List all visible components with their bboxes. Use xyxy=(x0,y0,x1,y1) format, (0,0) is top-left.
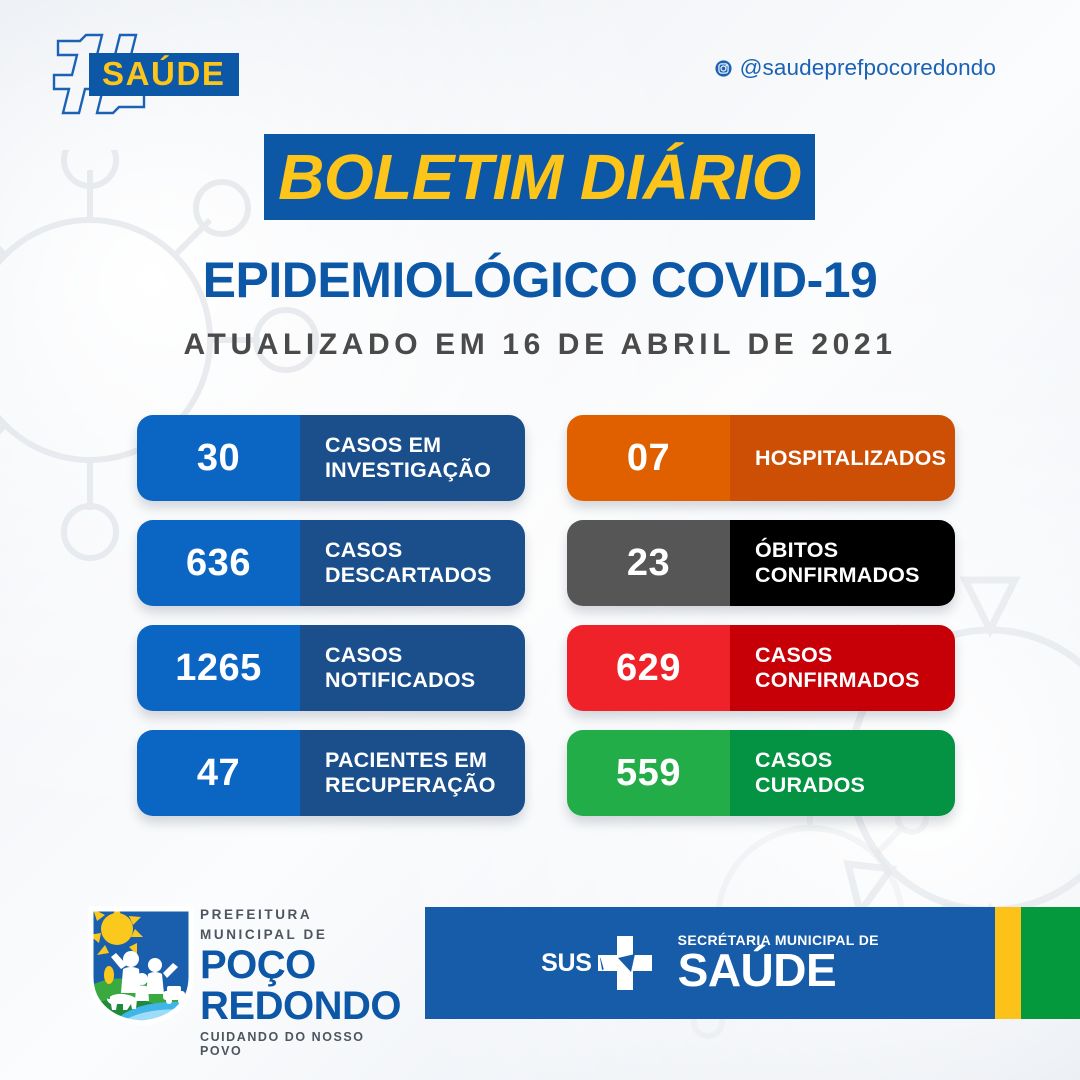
stat-label: ÓBITOSCONFIRMADOS xyxy=(730,520,955,606)
stat-label-line2: CONFIRMADOS xyxy=(755,668,920,692)
stat-label-line1: CASOS xyxy=(755,643,832,667)
title-band: BOLETIM DIÁRIO xyxy=(264,134,815,220)
stat-label-line1: CASOS xyxy=(325,643,402,667)
stat-card-pacientes-em-recuperacao[interactable]: 47 PACIENTES EMRECUPERAÇÃO xyxy=(137,730,525,816)
stat-label: HOSPITALIZADOS xyxy=(730,415,955,501)
sus-cross-icon xyxy=(594,932,656,994)
prefeitura-wordmark: PREFEITURA MUNICIPAL DE POÇO REDONDO CUI… xyxy=(200,905,410,1058)
stat-label: CASOS EMINVESTIGAÇÃO xyxy=(300,415,525,501)
stat-value: 30 xyxy=(137,415,300,501)
instagram-icon xyxy=(715,60,732,77)
stat-label-line2: RECUPERAÇÃO xyxy=(325,773,496,797)
sus-wordmark: SUS xyxy=(541,949,592,978)
stat-value: 629 xyxy=(567,625,730,711)
stat-card-casos-curados[interactable]: 559 CASOSCURADOS xyxy=(567,730,955,816)
stat-card-casos-descartados[interactable]: 636 CASOSDESCARTADOS xyxy=(137,520,525,606)
stat-label-line2: NOTIFICADOS xyxy=(325,668,475,692)
stat-value: 07 xyxy=(567,415,730,501)
stat-card-casos-confirmados[interactable]: 629 CASOSCONFIRMADOS xyxy=(567,625,955,711)
stat-card-obitos-confirmados[interactable]: 23 ÓBITOSCONFIRMADOS xyxy=(567,520,955,606)
stats-column-left: 30 CASOS EMINVESTIGAÇÃO 636 CASOSDESCART… xyxy=(137,415,525,835)
poster-subtitle: EPIDEMIOLÓGICO COVID-19 xyxy=(0,255,1080,305)
city-name-line1: POÇO xyxy=(200,946,410,984)
municipal-crest-icon xyxy=(85,903,197,1027)
stat-label-line2: CONFIRMADOS xyxy=(755,563,920,587)
stat-value: 636 xyxy=(137,520,300,606)
stat-label-line1: CASOS xyxy=(755,748,832,772)
stats-column-right: 07 HOSPITALIZADOS 23 ÓBITOSCONFIRMADOS 6… xyxy=(567,415,955,835)
stat-card-casos-notificados[interactable]: 1265 CASOSNOTIFICADOS xyxy=(137,625,525,711)
stat-value: 559 xyxy=(567,730,730,816)
banner-stripe-green xyxy=(1021,907,1080,1019)
stat-card-casos-em-investigacao[interactable]: 30 CASOS EMINVESTIGAÇÃO xyxy=(137,415,525,501)
secretaria-big-text: SAÚDE xyxy=(678,947,879,994)
stat-label: CASOSNOTIFICADOS xyxy=(300,625,525,711)
prefeitura-line1: PREFEITURA xyxy=(200,905,410,925)
poster-title: BOLETIM DIÁRIO xyxy=(264,145,815,209)
stat-label-line2: DESCARTADOS xyxy=(325,563,492,587)
city-slogan: CUIDANDO DO NOSSO POVO xyxy=(200,1030,410,1058)
banner-stripe-yellow xyxy=(995,907,1021,1019)
boletim-poster: SAÚDE @saudeprefpocoredondo BOLETIM DIÁR… xyxy=(0,0,1080,1080)
saude-logo: SAÚDE xyxy=(52,33,212,115)
stat-label-line1: HOSPITALIZADOS xyxy=(755,446,946,471)
stat-label-line1: CASOS EM xyxy=(325,433,441,457)
instagram-handle[interactable]: @saudeprefpocoredondo xyxy=(715,55,996,81)
stat-value: 23 xyxy=(567,520,730,606)
instagram-handle-text: @saudeprefpocoredondo xyxy=(740,55,996,81)
city-name-line2: REDONDO xyxy=(200,987,410,1025)
saude-logo-word: SAÚDE xyxy=(89,53,239,96)
stat-label-line1: PACIENTES EM xyxy=(325,748,487,772)
stat-card-hospitalizados[interactable]: 07 HOSPITALIZADOS xyxy=(567,415,955,501)
sus-logo: SUS xyxy=(541,932,656,994)
secretaria-wordmark: SECRÉTARIA MUNICIPAL DE SAÚDE xyxy=(678,933,879,994)
prefeitura-line2: MUNICIPAL DE xyxy=(200,925,410,945)
stat-label: CASOSDESCARTADOS xyxy=(300,520,525,606)
stat-value: 47 xyxy=(137,730,300,816)
stat-value: 1265 xyxy=(137,625,300,711)
stat-label: CASOSCURADOS xyxy=(730,730,955,816)
stat-label-line2: INVESTIGAÇÃO xyxy=(325,458,491,482)
stat-label: CASOSCONFIRMADOS xyxy=(730,625,955,711)
stat-label-line1: CASOS xyxy=(325,538,402,562)
poster-dateline: ATUALIZADO EM 16 DE ABRIL DE 2021 xyxy=(0,330,1080,360)
stat-label: PACIENTES EMRECUPERAÇÃO xyxy=(300,730,525,816)
secretaria-saude-banner: SUS SECRÉTARIA MUNICIPAL DE SAÚDE xyxy=(425,907,995,1019)
stat-label-line1: ÓBITOS xyxy=(755,538,838,562)
stat-label-line2: CURADOS xyxy=(755,773,865,797)
